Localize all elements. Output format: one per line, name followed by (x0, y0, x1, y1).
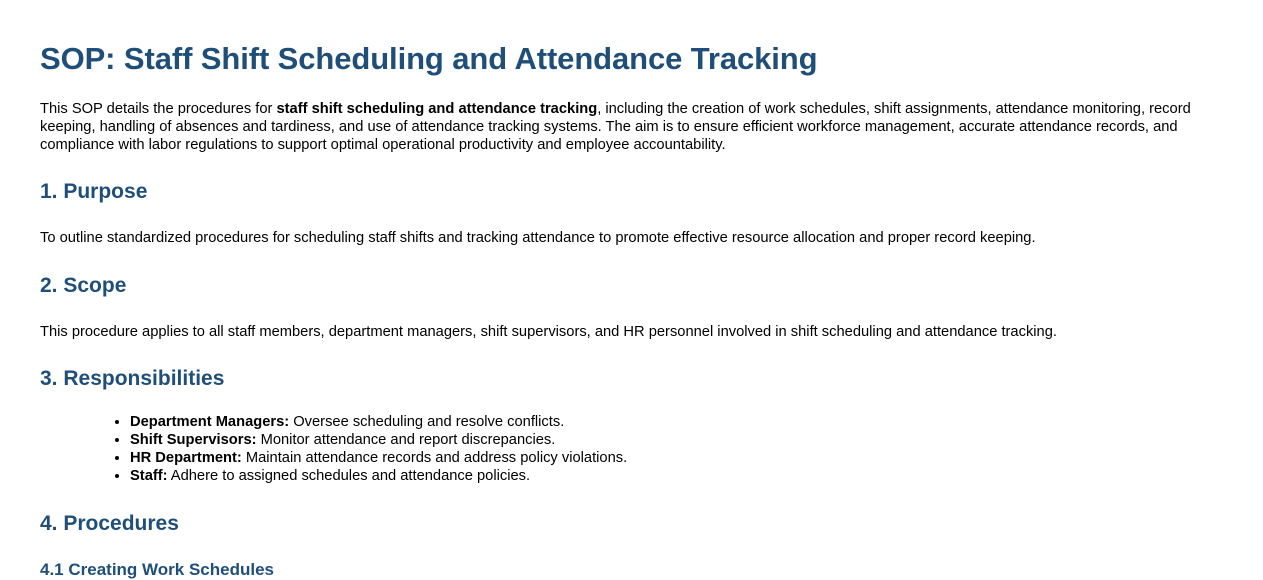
list-item: HR Department: Maintain attendance recor… (130, 449, 1223, 467)
subsection-heading-creating-work-schedules: 4.1 Creating Work Schedules (40, 536, 1223, 580)
document-content: SOP: Staff Shift Scheduling and Attendan… (0, 0, 1263, 580)
responsibility-description: Adhere to assigned schedules and attenda… (168, 468, 531, 484)
responsibility-role: Staff: (130, 468, 168, 484)
section-heading-responsibilities: 3. Responsibilities (40, 341, 1223, 391)
list-item: Staff: Adhere to assigned schedules and … (130, 467, 1223, 485)
responsibility-description: Monitor attendance and report discrepanc… (257, 432, 556, 448)
document-page: SOP: Staff Shift Scheduling and Attendan… (0, 0, 1263, 580)
page-title: SOP: Staff Shift Scheduling and Attendan… (40, 0, 1223, 78)
responsibility-role: Department Managers: (130, 414, 289, 430)
section-heading-scope: 2. Scope (40, 248, 1223, 298)
section-body-purpose: To outline standardized procedures for s… (40, 204, 1223, 247)
responsibility-description: Oversee scheduling and resolve conflicts… (289, 414, 564, 430)
responsibility-role: HR Department: (130, 450, 242, 466)
responsibility-description: Maintain attendance records and address … (242, 450, 627, 466)
section-heading-procedures: 4. Procedures (40, 486, 1223, 536)
section-body-scope: This procedure applies to all staff memb… (40, 298, 1223, 341)
list-item: Shift Supervisors: Monitor attendance an… (130, 431, 1223, 449)
intro-bold-phrase: staff shift scheduling and attendance tr… (276, 101, 597, 117)
responsibilities-list: Department Managers: Oversee scheduling … (40, 391, 1223, 485)
list-item: Department Managers: Oversee scheduling … (130, 413, 1223, 431)
intro-text-before: This SOP details the procedures for (40, 101, 276, 117)
responsibility-role: Shift Supervisors: (130, 432, 257, 448)
intro-paragraph: This SOP details the procedures for staf… (40, 78, 1223, 155)
section-heading-purpose: 1. Purpose (40, 154, 1223, 204)
